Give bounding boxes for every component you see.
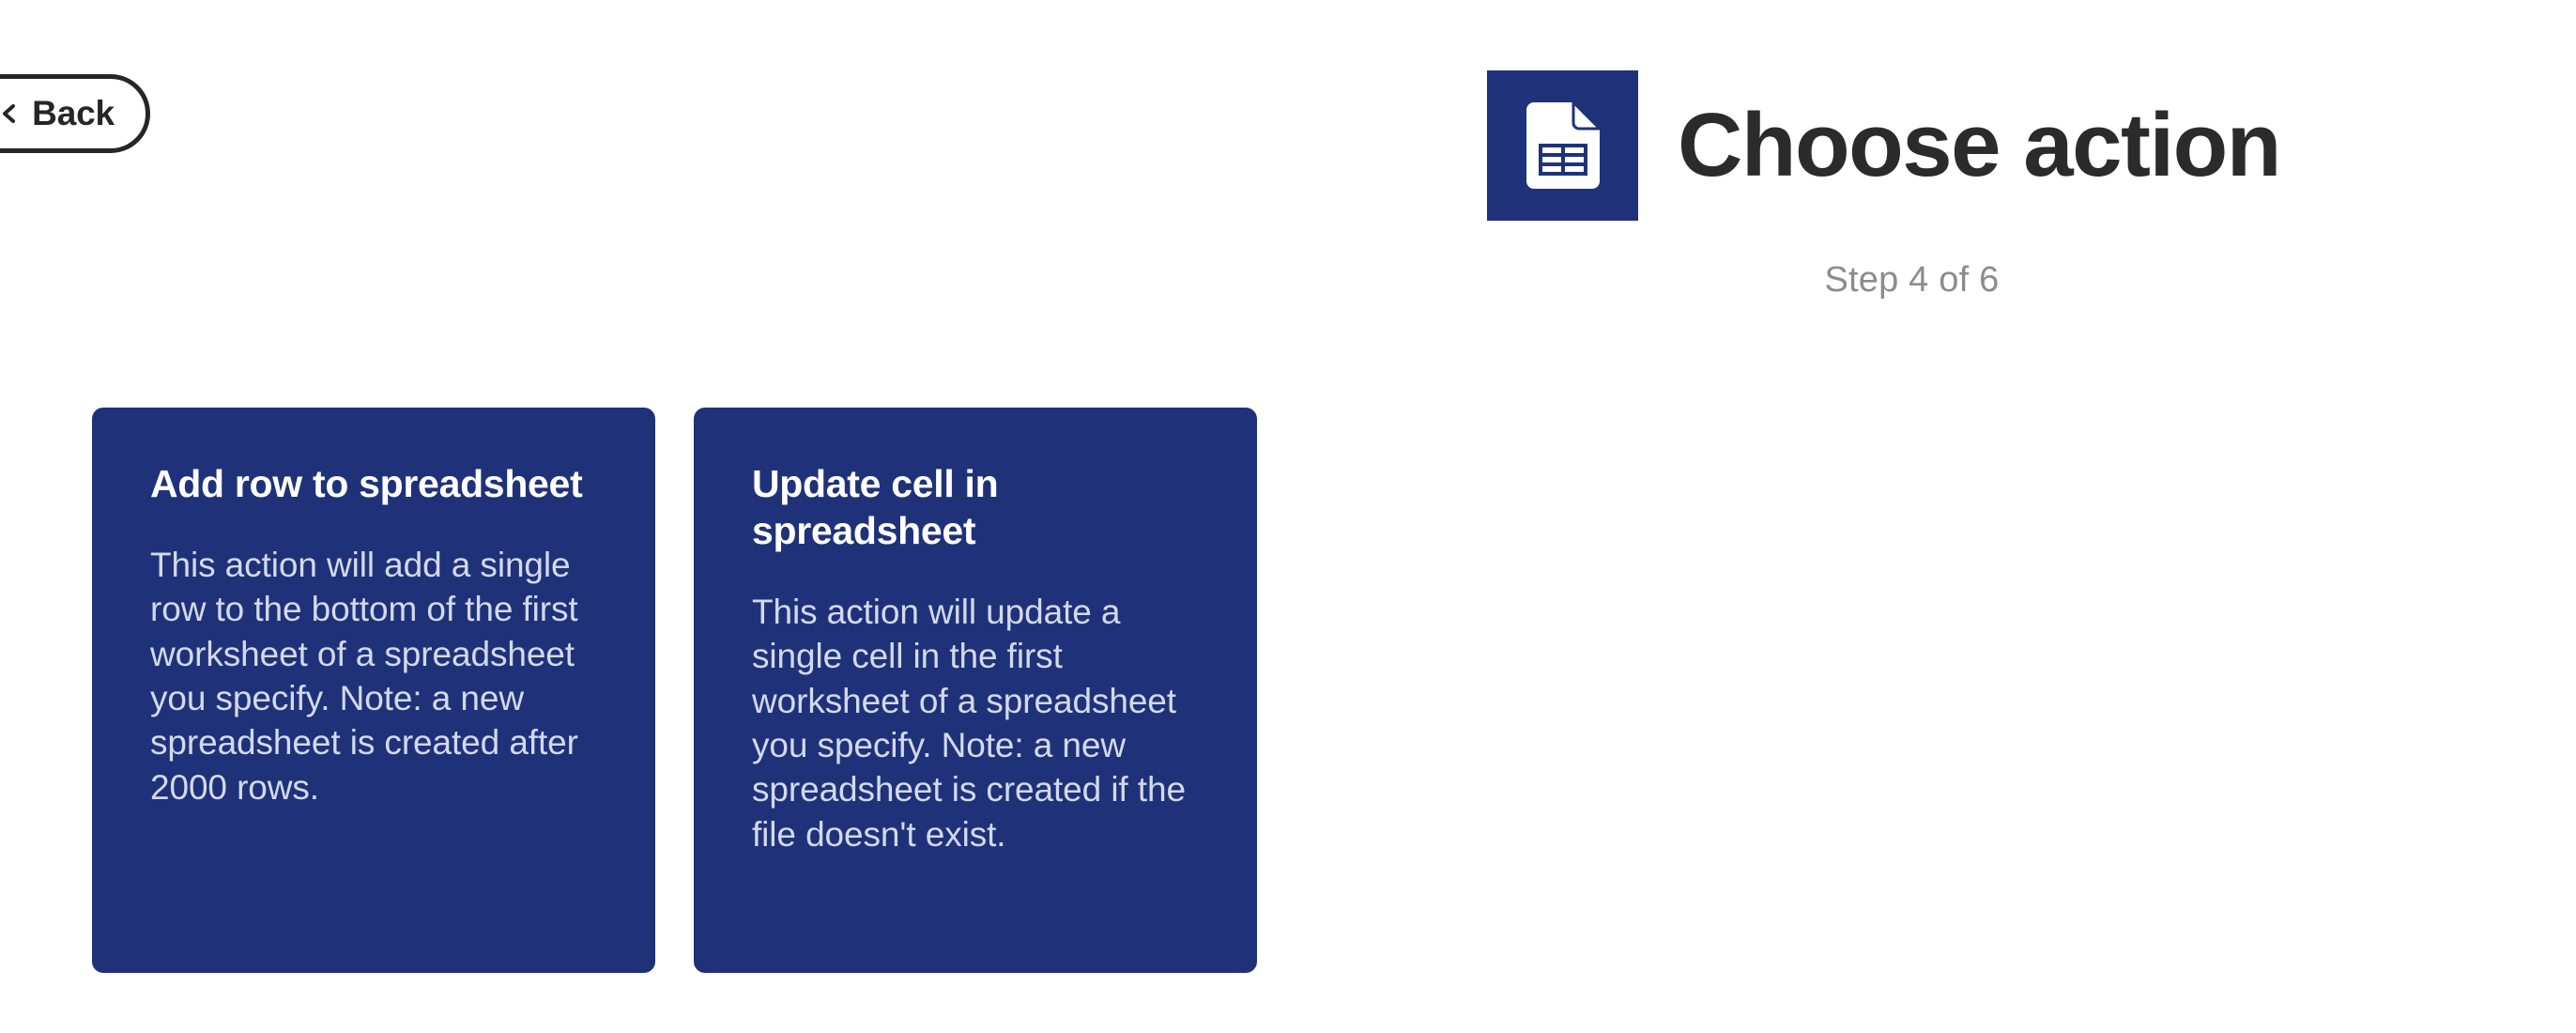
back-button-label: Back <box>32 94 115 133</box>
action-card-title: Update cell in spreadsheet <box>752 460 1199 554</box>
spreadsheet-document-icon <box>1487 70 1638 221</box>
action-card-description: This action will add a single row to the… <box>150 543 597 809</box>
back-button[interactable]: Back <box>0 74 150 153</box>
chevron-left-icon <box>0 104 19 123</box>
header-title-row: Choose action <box>1487 70 2280 221</box>
action-card-title: Add row to spreadsheet <box>150 460 597 507</box>
step-indicator: Step 4 of 6 <box>1824 260 1999 301</box>
wizard-header: Choose action Step 4 of 6 <box>1487 70 2280 301</box>
action-card-list: Add row to spreadsheet This action will … <box>92 408 1257 973</box>
page-title: Choose action <box>1678 100 2280 191</box>
action-card-update-cell[interactable]: Update cell in spreadsheet This action w… <box>694 408 1257 973</box>
action-card-add-row[interactable]: Add row to spreadsheet This action will … <box>92 408 655 973</box>
action-card-description: This action will update a single cell in… <box>752 590 1199 856</box>
